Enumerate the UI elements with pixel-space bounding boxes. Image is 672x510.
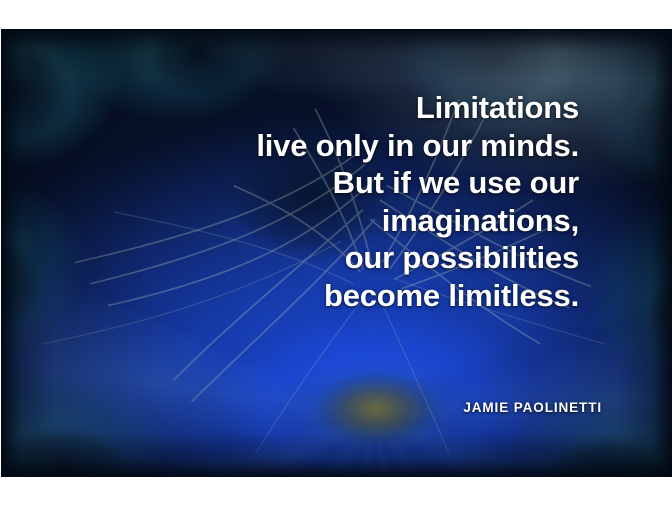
poster-frame: Limitations live only in our minds. But … <box>0 0 672 510</box>
quote-text-block: Limitations live only in our minds. But … <box>119 89 579 314</box>
quote-line: live only in our minds. <box>119 127 579 165</box>
quote-line: imaginations, <box>119 202 579 240</box>
quote-attribution: JAMIE PAOLINETTI <box>463 400 602 415</box>
quote-line: Limitations <box>119 89 579 127</box>
quote-line: But if we use our <box>119 164 579 202</box>
quote-line: become limitless. <box>119 277 579 315</box>
fractal-artwork-background: Limitations live only in our minds. But … <box>1 29 672 477</box>
quote-line: our possibilities <box>119 239 579 277</box>
